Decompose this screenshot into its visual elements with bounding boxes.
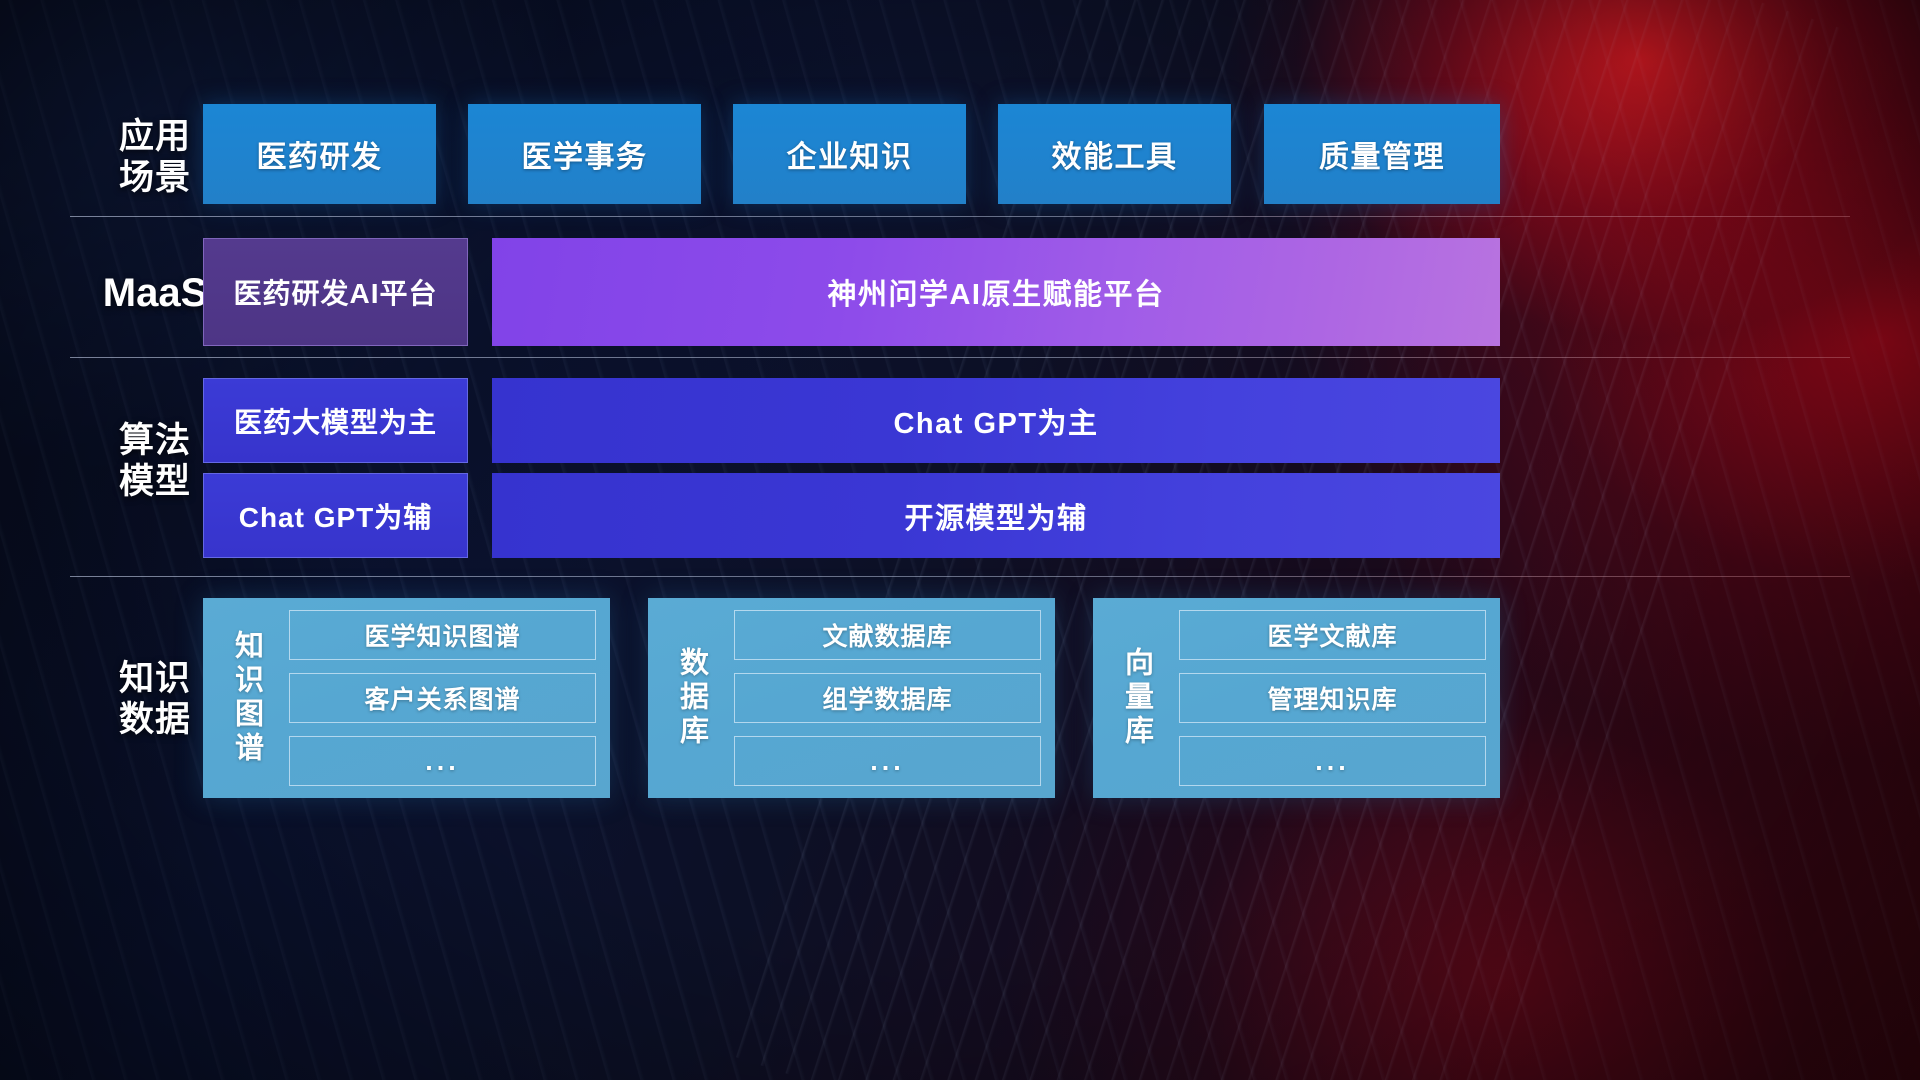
knowledge-item[interactable]: 管理知识库	[1179, 673, 1486, 723]
knowledge-item-more[interactable]: ...	[289, 736, 596, 786]
knowledge-group-items: 医学知识图谱 客户关系图谱 ...	[277, 610, 596, 786]
algo-left-box-1[interactable]: 医药大模型为主	[203, 378, 468, 463]
row-algorithm-models: 算法 模型 医药大模型为主 Chat GPT为主 Chat GPT为辅 开源模型…	[0, 378, 1920, 558]
knowledge-group-title: 知识图谱	[215, 610, 277, 786]
algo-left-box-2[interactable]: Chat GPT为辅	[203, 473, 468, 558]
app-box-3[interactable]: 企业知识	[733, 104, 966, 204]
algo-right-box-2[interactable]: 开源模型为辅	[492, 473, 1500, 558]
knowledge-group-title: 向量库	[1105, 610, 1167, 786]
knowledge-group-title: 数据库	[660, 610, 722, 786]
knowledge-item[interactable]: 医学文献库	[1179, 610, 1486, 660]
maas-left-box[interactable]: 医药研发AI平台	[203, 238, 468, 346]
knowledge-group-items: 医学文献库 管理知识库 ...	[1167, 610, 1486, 786]
app-box-5[interactable]: 质量管理	[1264, 104, 1500, 204]
knowledge-item[interactable]: 客户关系图谱	[289, 673, 596, 723]
architecture-stack: 应用 场景 医药研发 医学事务 企业知识 效能工具 质量管理 MaaS 医药研发…	[0, 0, 1920, 1080]
knowledge-group-vector-store[interactable]: 向量库 医学文献库 管理知识库 ...	[1093, 598, 1500, 798]
divider-3	[70, 576, 1850, 577]
knowledge-item[interactable]: 文献数据库	[734, 610, 1041, 660]
knowledge-item-more[interactable]: ...	[1179, 736, 1486, 786]
app-box-2[interactable]: 医学事务	[468, 104, 701, 204]
row-maas: MaaS 医药研发AI平台 神州问学AI原生赋能平台	[0, 238, 1920, 346]
knowledge-group-database[interactable]: 数据库 文献数据库 组学数据库 ...	[648, 598, 1055, 798]
row-application-scenarios: 应用 场景 医药研发 医学事务 企业知识 效能工具 质量管理	[0, 104, 1920, 204]
divider-2	[70, 357, 1850, 358]
algo-right-box-1[interactable]: Chat GPT为主	[492, 378, 1500, 463]
knowledge-group-items: 文献数据库 组学数据库 ...	[722, 610, 1041, 786]
knowledge-item[interactable]: 组学数据库	[734, 673, 1041, 723]
knowledge-group-knowledge-graph[interactable]: 知识图谱 医学知识图谱 客户关系图谱 ...	[203, 598, 610, 798]
knowledge-item[interactable]: 医学知识图谱	[289, 610, 596, 660]
knowledge-item-more[interactable]: ...	[734, 736, 1041, 786]
app-box-1[interactable]: 医药研发	[203, 104, 436, 204]
divider-1	[70, 216, 1850, 217]
slide-canvas: 应用 场景 医药研发 医学事务 企业知识 效能工具 质量管理 MaaS 医药研发…	[0, 0, 1920, 1080]
app-box-4[interactable]: 效能工具	[998, 104, 1231, 204]
maas-right-box[interactable]: 神州问学AI原生赋能平台	[492, 238, 1500, 346]
row-knowledge-data: 知识 数据 知识图谱 医学知识图谱 客户关系图谱 ... 数据库 文献数据库 组…	[0, 598, 1920, 798]
